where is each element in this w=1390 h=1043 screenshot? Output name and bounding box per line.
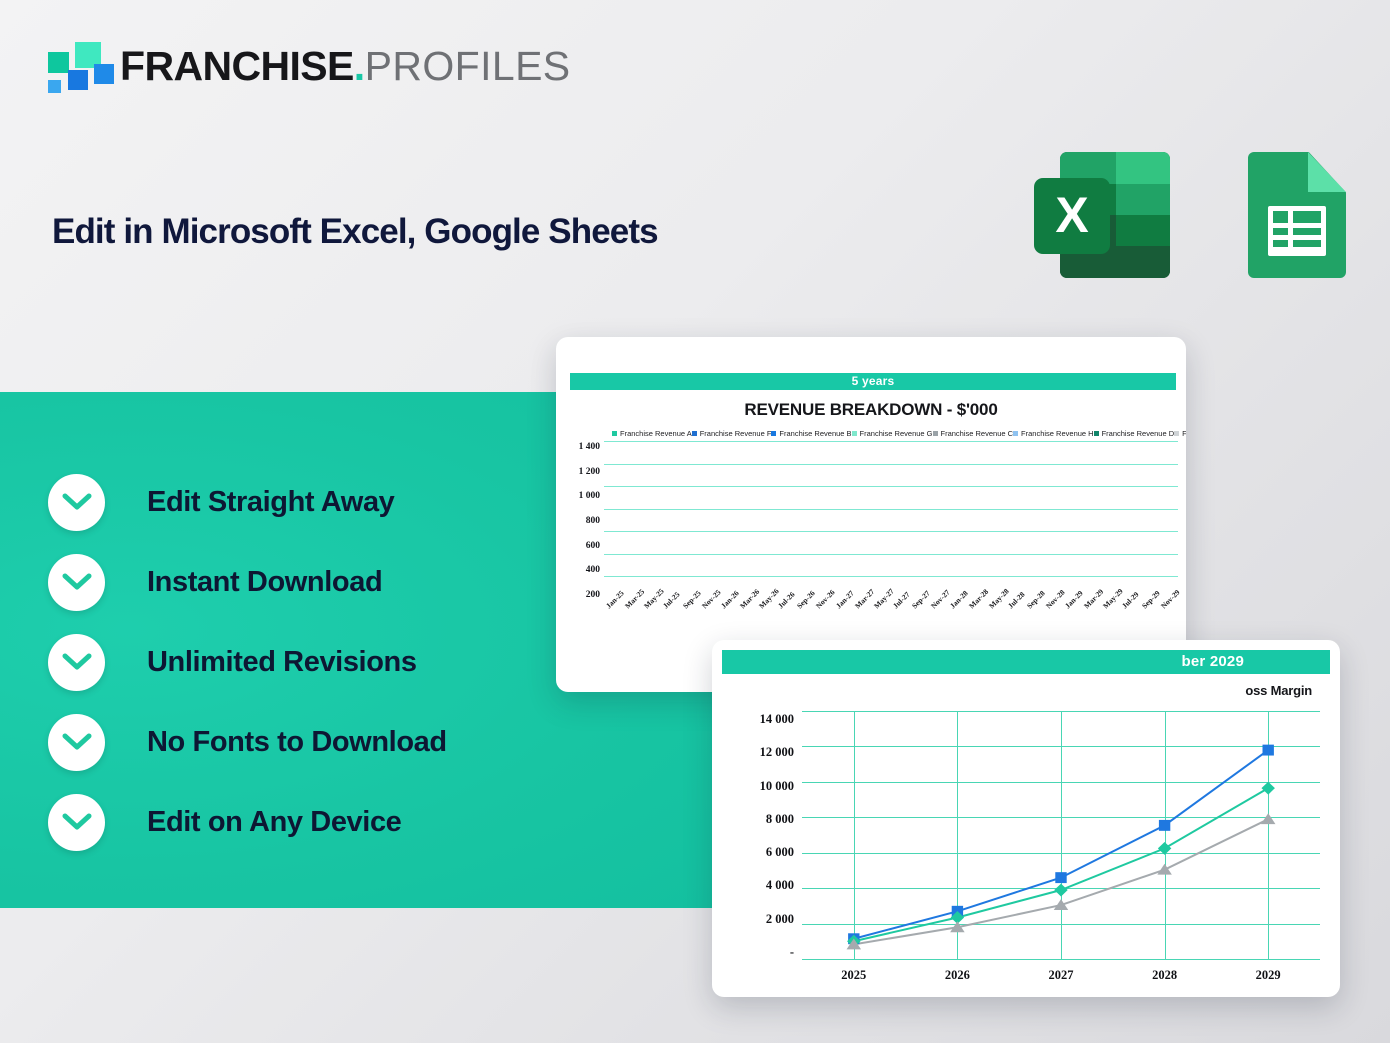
x-tick <box>652 602 662 658</box>
y-tick-label: 200 <box>586 590 600 600</box>
feature-label: Unlimited Revisions <box>147 646 417 679</box>
bar-chart-title: REVENUE BREAKDOWN - $'000 <box>556 400 1186 420</box>
x-tick-label: 2028 <box>1113 968 1217 992</box>
feature-label: Edit Straight Away <box>147 486 394 519</box>
y-tick-label: 400 <box>586 565 600 575</box>
legend-label: Franchise Revenue J <box>1182 429 1186 438</box>
x-tick: Nov-25 <box>700 602 710 658</box>
line-chart-series <box>802 712 1320 960</box>
gross-margin-card[interactable]: ber 2029 oss Margin 14 00012 00010 0008 … <box>712 640 1340 997</box>
legend-item: Franchise Revenue G <box>852 426 933 440</box>
x-tick <box>614 602 624 658</box>
chevron-down-icon <box>48 714 105 771</box>
y-tick-label: 8 000 <box>766 812 794 827</box>
bar-chart-y-axis: 1 4001 2001 000800600400200 <box>556 442 600 600</box>
legend-label: Franchise Revenue F <box>700 429 772 438</box>
legend-item: Franchise Revenue A <box>612 426 692 440</box>
x-tick <box>671 602 681 658</box>
x-tick <box>633 602 643 658</box>
x-tick: Jan-25 <box>604 602 614 658</box>
y-tick-label: 12 000 <box>760 745 794 760</box>
legend-item: Franchise Revenue C <box>933 426 1014 440</box>
feature-item[interactable]: Unlimited Revisions <box>48 622 447 702</box>
feature-label: No Fonts to Download <box>147 726 447 759</box>
y-tick-label: - <box>790 945 794 960</box>
brand-name-light: PROFILES <box>365 43 571 89</box>
y-tick-label: 800 <box>586 516 600 526</box>
chevron-down-icon <box>48 554 105 611</box>
microsoft-excel-icon: X <box>1034 152 1170 278</box>
x-tick: Mar-25 <box>623 602 633 658</box>
legend-label: Franchise Revenue H <box>1021 429 1094 438</box>
legend-item: Franchise Revenue B <box>771 426 851 440</box>
excel-x-glyph: X <box>1034 178 1110 254</box>
feature-item[interactable]: No Fonts to Download <box>48 702 447 782</box>
line-chart-x-axis: 20252026202720282029 <box>802 968 1320 992</box>
line-chart-title: oss Margin <box>712 683 1340 698</box>
x-tick <box>690 602 700 658</box>
line-card-band-label: ber 2029 <box>722 650 1330 674</box>
bar-chart-bars <box>604 442 1178 600</box>
legend-label: Franchise Revenue A <box>620 429 692 438</box>
bar-chart-legend: Franchise Revenue AFranchise Revenue FFr… <box>612 426 1172 440</box>
legend-swatch <box>1094 431 1099 436</box>
y-tick-label: 2 000 <box>766 912 794 927</box>
brand-logo[interactable]: FRANCHISE.PROFILES <box>44 40 571 92</box>
legend-swatch <box>612 431 617 436</box>
y-tick-label: 1 000 <box>579 491 600 501</box>
legend-label: Franchise Revenue B <box>779 429 851 438</box>
revenue-breakdown-card[interactable]: 5 years REVENUE BREAKDOWN - $'000 Franch… <box>556 337 1186 692</box>
bar-chart-plot-area: 1 4001 2001 000800600400200 Jan-25Mar-25… <box>556 442 1186 612</box>
x-tick-label: 2025 <box>802 968 906 992</box>
y-tick-label: 10 000 <box>760 779 794 794</box>
sheets-grid-glyph <box>1268 206 1326 256</box>
x-tick: Sep-25 <box>681 602 691 658</box>
brand-name-bold: FRANCHISE <box>120 43 354 89</box>
feature-label: Edit on Any Device <box>147 806 401 839</box>
legend-label: Franchise Revenue D <box>1102 429 1175 438</box>
franchise-profiles-squares-logo-icon <box>44 40 106 92</box>
bar-card-band-label: 5 years <box>570 373 1176 390</box>
legend-swatch <box>933 431 938 436</box>
legend-label: Franchise Revenue C <box>941 429 1014 438</box>
legend-swatch <box>1174 431 1179 436</box>
legend-label: Franchise Revenue G <box>860 429 933 438</box>
y-tick-label: 14 000 <box>760 712 794 727</box>
y-tick-label: 1 200 <box>579 467 600 477</box>
page-title: Edit in Microsoft Excel, Google Sheets <box>52 212 658 252</box>
legend-swatch <box>1013 431 1018 436</box>
y-tick-label: 4 000 <box>766 878 794 893</box>
app-icons-group: X <box>1034 152 1346 278</box>
feature-item[interactable]: Edit Straight Away <box>48 462 447 542</box>
line-chart-y-axis: 14 00012 00010 0008 0006 0004 0002 000- <box>720 712 794 960</box>
legend-swatch <box>852 431 857 436</box>
x-tick-label: 2027 <box>1009 968 1113 992</box>
feature-label: Instant Download <box>147 566 382 599</box>
line-chart-plot-area: 14 00012 00010 0008 0006 0004 0002 000- … <box>712 712 1340 997</box>
sheets-page-fold <box>1308 152 1346 192</box>
y-tick-label: 600 <box>586 541 600 551</box>
legend-item: Franchise Revenue F <box>692 426 772 440</box>
legend-item: Franchise Revenue D <box>1094 426 1175 440</box>
feature-list: Edit Straight Away Instant Download Unli… <box>48 462 447 862</box>
y-tick-label: 1 400 <box>579 442 600 452</box>
chevron-down-icon <box>48 474 105 531</box>
legend-swatch <box>692 431 697 436</box>
x-tick: May-25 <box>642 602 652 658</box>
brand-name-dot: . <box>354 43 365 89</box>
x-tick: Jul-25 <box>661 602 671 658</box>
brand-wordmark: FRANCHISE.PROFILES <box>120 43 571 90</box>
x-tick-label: 2026 <box>906 968 1010 992</box>
feature-item[interactable]: Edit on Any Device <box>48 782 447 862</box>
google-sheets-icon <box>1248 152 1346 278</box>
chevron-down-icon <box>48 634 105 691</box>
legend-item: Franchise Revenue H <box>1013 426 1094 440</box>
feature-item[interactable]: Instant Download <box>48 542 447 622</box>
chevron-down-icon <box>48 794 105 851</box>
y-tick-label: 6 000 <box>766 845 794 860</box>
x-tick-label: 2029 <box>1216 968 1320 992</box>
legend-swatch <box>771 431 776 436</box>
legend-item: Franchise Revenue J <box>1174 426 1186 440</box>
